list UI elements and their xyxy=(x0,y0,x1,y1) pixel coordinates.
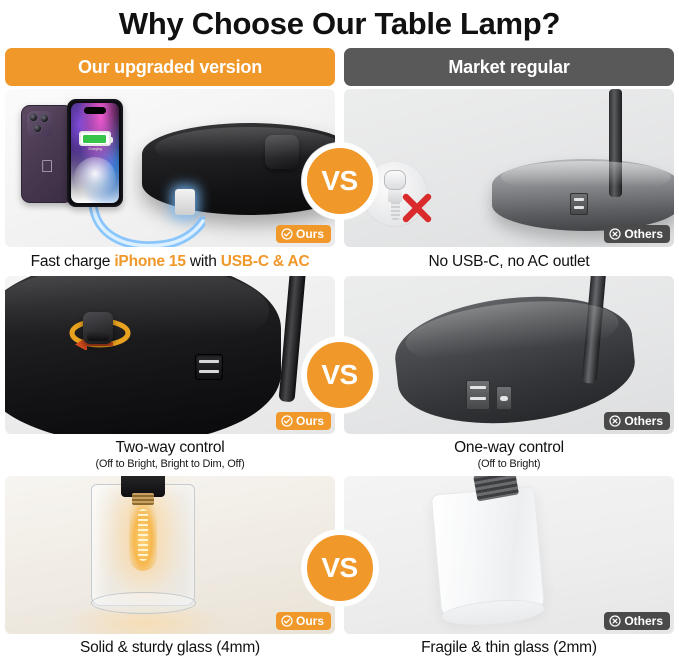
badge-others: Others xyxy=(604,225,670,243)
caption-others-control: One-way control (Off to Bright) xyxy=(344,434,674,473)
badge-others-label: Others xyxy=(624,414,663,428)
badge-ours: Ours xyxy=(276,225,331,243)
caption-others-control-text: One-way control xyxy=(346,438,672,457)
captions-row3: Solid & sturdy glass (4mm) Fragile & thi… xyxy=(5,634,674,659)
header-market: Market regular xyxy=(344,48,674,86)
lamp-knob-icon xyxy=(265,135,299,169)
comparison-row-glass: Ours Others VS xyxy=(5,476,674,659)
vs-badge-row3: VS xyxy=(302,530,378,606)
caption-others-control-subtitle: (Off to Bright) xyxy=(346,457,672,471)
iphone-front-image: Charging xyxy=(67,99,123,207)
clear-glass-shade-image xyxy=(91,484,195,606)
comparison-row-control: Ours xyxy=(5,276,674,473)
caption-ours-control-text: Two-way control xyxy=(7,438,333,457)
apple-logo-icon:  xyxy=(41,158,54,175)
caption-part-highlight-1: iPhone 15 xyxy=(114,253,185,270)
lamp-pole-icon xyxy=(609,89,622,197)
pane-others-control: Others xyxy=(344,276,674,434)
check-circle-icon xyxy=(281,615,293,627)
check-circle-icon xyxy=(281,415,293,427)
check-circle-icon xyxy=(281,228,293,240)
caption-part-highlight-2: USB-C & AC xyxy=(221,253,310,270)
usb-c-port-glowing-icon xyxy=(175,189,195,215)
usb-a-port-icon xyxy=(570,193,588,215)
two-way-knob-icon xyxy=(83,312,113,344)
dark-lamp-base-image xyxy=(390,286,640,434)
captions-row2: Two-way control (Off to Bright, Bright t… xyxy=(5,434,674,473)
badge-ours-label: Ours xyxy=(296,227,324,241)
dynamic-island-icon xyxy=(84,107,106,114)
caption-part-plain-2: with xyxy=(186,253,221,270)
comparison-rows:  Charging xyxy=(0,86,679,659)
frosted-glass-shade-image xyxy=(431,486,546,621)
x-circle-icon xyxy=(609,615,621,627)
comparison-infographic: Why Choose Our Table Lamp? Our upgraded … xyxy=(0,0,679,664)
pane-others-glass: Others xyxy=(344,476,674,634)
battery-indicator: Charging xyxy=(78,131,112,152)
filament-icon xyxy=(138,509,148,561)
header-ours: Our upgraded version xyxy=(5,48,335,86)
badge-ours: Ours xyxy=(276,612,331,630)
caption-others-charging-text: No USB-C, no AC outlet xyxy=(346,252,672,271)
x-circle-icon xyxy=(609,415,621,427)
usb-c-port-icon xyxy=(496,386,512,410)
pane-ours-glass: Ours xyxy=(5,476,335,634)
bulb-socket-icon xyxy=(473,476,519,501)
caption-ours-charging: Fast charge iPhone 15 with USB-C & AC xyxy=(5,247,335,273)
comparison-row-charging:  Charging xyxy=(5,89,674,273)
badge-others-label: Others xyxy=(624,614,663,628)
badge-others: Others xyxy=(604,612,670,630)
vs-badge-row1: VS xyxy=(302,143,378,219)
iphone-back-image:  xyxy=(21,105,73,203)
caption-part-plain-1: Fast charge xyxy=(31,253,115,270)
captions-row1: Fast charge iPhone 15 with USB-C & AC No… xyxy=(5,247,674,273)
caption-others-charging: No USB-C, no AC outlet xyxy=(344,247,674,273)
vs-badge-row2: VS xyxy=(302,337,378,413)
caption-others-glass: Fragile & thin glass (2mm) xyxy=(344,634,674,659)
black-lamp-base-top-image xyxy=(5,276,281,434)
page-title: Why Choose Our Table Lamp? xyxy=(0,0,679,44)
caption-ours-control: Two-way control (Off to Bright, Bright t… xyxy=(5,434,335,473)
grey-lamp-base-image xyxy=(492,159,674,231)
caption-ours-control-subtitle: (Off to Bright, Bright to Dim, Off) xyxy=(7,457,333,471)
badge-ours-label: Ours xyxy=(296,614,324,628)
lamp-pole-icon xyxy=(581,276,607,384)
badge-others: Others xyxy=(604,412,670,430)
badge-ours: Ours xyxy=(276,412,331,430)
pane-ours-charging:  Charging xyxy=(5,89,335,247)
bulb-socket-icon xyxy=(121,476,165,497)
usb-port-icon xyxy=(195,354,223,380)
caption-ours-glass-text: Solid & sturdy glass (4mm) xyxy=(7,638,333,657)
badge-ours-label: Ours xyxy=(296,414,324,428)
edison-bulb-icon xyxy=(129,501,157,571)
camera-island-icon xyxy=(27,111,53,137)
caption-others-glass-text: Fragile & thin glass (2mm) xyxy=(346,638,672,657)
x-circle-icon xyxy=(609,228,621,240)
pane-others-charging: Others xyxy=(344,89,674,247)
pane-ours-control: Ours xyxy=(5,276,335,434)
usb-a-port-icon xyxy=(466,380,490,410)
caption-ours-glass: Solid & sturdy glass (4mm) xyxy=(5,634,335,659)
badge-others-label: Others xyxy=(624,227,663,241)
column-headers: Our upgraded version Market regular xyxy=(0,44,679,86)
caption-ours-charging-text: Fast charge iPhone 15 with USB-C & AC xyxy=(7,252,333,271)
red-x-icon xyxy=(402,193,432,223)
